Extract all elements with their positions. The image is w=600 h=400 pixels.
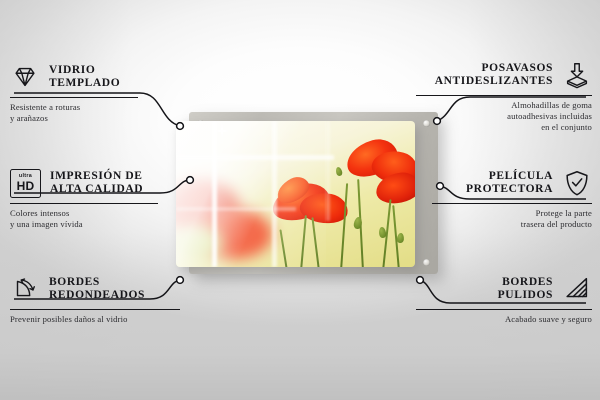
- feature-impresion-alta-calidad: ultra HD IMPRESIÓN DE ALTA CALIDAD Color…: [10, 166, 198, 230]
- feature-divider: [10, 203, 158, 204]
- mounting-peg: [423, 259, 430, 266]
- feature-divider: [10, 309, 180, 310]
- feature-bordes-redondeados: BORDES REDONDEADOS Prevenir posibles dañ…: [10, 272, 198, 325]
- poppy-stem: [340, 183, 348, 267]
- feature-title: VIDRIO TEMPLADO: [49, 64, 120, 91]
- feature-header: VIDRIO TEMPLADO: [10, 60, 198, 94]
- feature-title: BORDES REDONDEADOS: [49, 276, 145, 303]
- feature-bordes-pulidos: BORDES PULIDOS Acabado suave y seguro: [404, 272, 592, 325]
- feature-divider: [416, 95, 592, 96]
- tempered-glass-panel: [176, 121, 415, 267]
- feature-subtitle: Almohadillas de goma autoadhesivas inclu…: [404, 100, 592, 133]
- hatched-triangle-icon: [562, 274, 592, 304]
- poppy-bud: [396, 233, 404, 244]
- feature-divider: [432, 203, 592, 204]
- feature-vidrio-templado: VIDRIO TEMPLADO Resistente a roturas y a…: [10, 60, 198, 124]
- feature-title: PELÍCULA PROTECTORA: [466, 170, 553, 197]
- feature-title: BORDES PULIDOS: [498, 276, 553, 303]
- poppy-bud: [335, 166, 343, 176]
- feature-subtitle: Protege la parte trasera del producto: [404, 208, 592, 230]
- feature-header: PELÍCULA PROTECTORA: [404, 166, 592, 200]
- infographic-canvas: VIDRIO TEMPLADO Resistente a roturas y a…: [0, 0, 600, 400]
- feature-subtitle: Colores intensos y una imagen vívida: [10, 208, 198, 230]
- feature-header: BORDES PULIDOS: [404, 272, 592, 306]
- feature-header: ultra HD IMPRESIÓN DE ALTA CALIDAD: [10, 166, 198, 200]
- badge-hd-label: HD: [17, 180, 35, 192]
- feature-title: POSAVASOS ANTIDESLIZANTES: [435, 62, 553, 89]
- feature-title: IMPRESIÓN DE ALTA CALIDAD: [50, 170, 143, 197]
- shield-check-icon: [562, 168, 592, 198]
- diamond-icon: [10, 62, 40, 92]
- poppy-stem: [279, 229, 288, 267]
- feature-header: POSAVASOS ANTIDESLIZANTES: [404, 58, 592, 92]
- blurred-poppy: [176, 225, 222, 261]
- feature-divider: [416, 309, 592, 310]
- feature-pelicula-protectora: PELÍCULA PROTECTORA Protege la parte tra…: [404, 166, 592, 230]
- feature-subtitle: Acabado suave y seguro: [404, 314, 592, 325]
- ultra-hd-badge-icon: ultra HD: [10, 169, 41, 198]
- poppy-scene: [176, 121, 415, 267]
- poppy-stem: [300, 215, 307, 267]
- poppy-stem: [311, 217, 320, 267]
- feature-header: BORDES REDONDEADOS: [10, 272, 198, 306]
- feature-subtitle: Resistente a roturas y arañazos: [10, 102, 198, 124]
- product-image: [176, 112, 438, 274]
- feature-posavasos-antideslizantes: POSAVASOS ANTIDESLIZANTES Almohadillas d…: [404, 58, 592, 133]
- feature-divider: [10, 97, 138, 98]
- feature-subtitle: Prevenir posibles daños al vidrio: [10, 314, 198, 325]
- pad-stack-arrow-icon: [562, 60, 592, 90]
- rounded-corner-icon: [10, 274, 40, 304]
